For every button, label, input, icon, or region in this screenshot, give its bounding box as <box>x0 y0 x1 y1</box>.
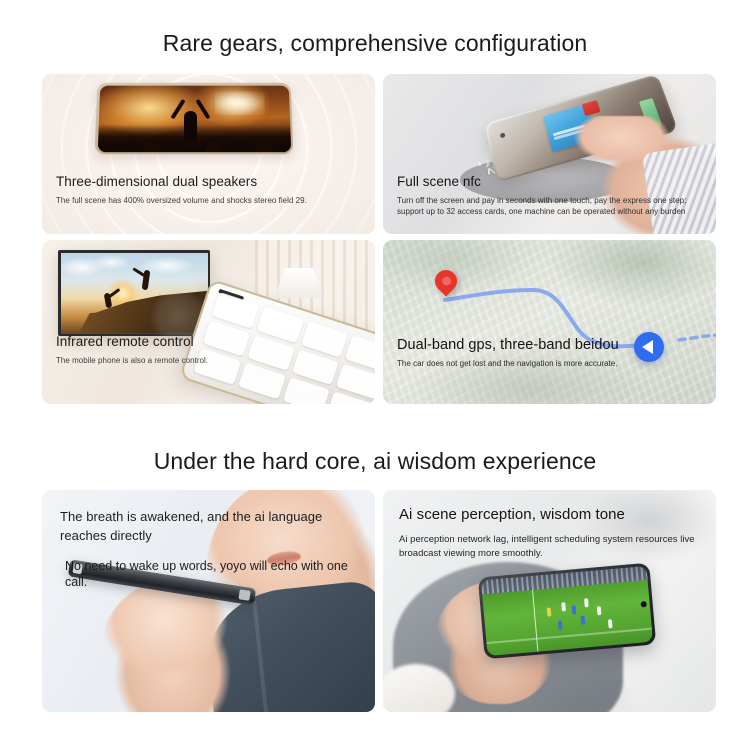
player-marker <box>558 621 563 630</box>
card-title: Ai scene perception, wisdom tone <box>399 506 704 525</box>
card-title: Infrared remote control <box>56 334 365 351</box>
card-text-block: Three-dimensional dual speakers The full… <box>56 174 365 206</box>
card-subtitle: Turn off the screen and pay in seconds w… <box>397 195 706 218</box>
card-title: Full scene nfc <box>397 174 706 191</box>
card-title: Three-dimensional dual speakers <box>56 174 365 191</box>
stage-light-glow <box>215 92 265 116</box>
card-text-block: Full scene nfc Turn off the screen and p… <box>397 174 706 218</box>
feature-card-dual-band-gps[interactable]: Dual-band gps, three-band beidou The car… <box>383 240 716 404</box>
cheering-fan-silhouette <box>184 111 197 141</box>
payment-badge-icon <box>582 100 601 116</box>
navigation-route-line <box>383 240 716 404</box>
feature-page: Rare gears, comprehensive configuration … <box>0 0 750 750</box>
player-marker <box>581 616 586 625</box>
card-title: Dual-band gps, three-band beidou <box>397 336 706 354</box>
feature-card-dual-speakers[interactable]: Three-dimensional dual speakers The full… <box>42 74 375 234</box>
card-text-block: The breath is awakened, and the ai langu… <box>60 508 361 590</box>
phone-landscape-illustration <box>95 83 294 154</box>
feature-grid-top: Three-dimensional dual speakers The full… <box>42 74 716 404</box>
player-marker <box>547 608 552 617</box>
section-heading-ai-wisdom: Under the hard core, ai wisdom experienc… <box>0 450 750 473</box>
camera-dot-icon <box>500 132 506 138</box>
phone-landscape-illustration <box>478 563 656 660</box>
card-subtitle: The full scene has 400% oversized volume… <box>56 195 365 207</box>
pitch-halfway-line <box>532 590 539 651</box>
pitch-boundary-line <box>486 628 651 644</box>
feature-card-ai-language[interactable]: The breath is awakened, and the ai langu… <box>42 490 375 712</box>
card-text-block: Dual-band gps, three-band beidou The car… <box>397 336 706 370</box>
feature-card-full-scene-nfc[interactable]: NFC Full scene nfc Turn off the screen a… <box>383 74 716 234</box>
player-marker <box>584 598 589 607</box>
card-subtitle: The car does not get lost and the naviga… <box>397 358 706 370</box>
player-marker <box>572 606 577 615</box>
card-title: The breath is awakened, and the ai langu… <box>60 508 361 546</box>
card-subtitle: The mobile phone is also a remote contro… <box>56 355 365 367</box>
section-heading-rare-gears: Rare gears, comprehensive configuration <box>0 32 750 55</box>
feature-card-ai-scene-perception[interactable]: Ai scene perception, wisdom tone Ai perc… <box>383 490 716 712</box>
climber-figure <box>103 293 112 309</box>
card-text-block: Infrared remote control The mobile phone… <box>56 334 365 366</box>
player-marker <box>561 602 566 611</box>
card-note: No need to wake up words, yoyo will echo… <box>60 558 361 591</box>
player-marker <box>597 607 602 616</box>
player-marker <box>608 619 613 628</box>
feature-card-infrared-remote[interactable]: Infrared remote control The mobile phone… <box>42 240 375 404</box>
soccer-broadcast-screen <box>481 566 653 656</box>
card-subtitle: Ai perception network lag, intelligent s… <box>399 533 704 562</box>
card-text-block: Ai scene perception, wisdom tone Ai perc… <box>399 506 704 561</box>
feature-grid-bottom: The breath is awakened, and the ai langu… <box>42 490 716 712</box>
